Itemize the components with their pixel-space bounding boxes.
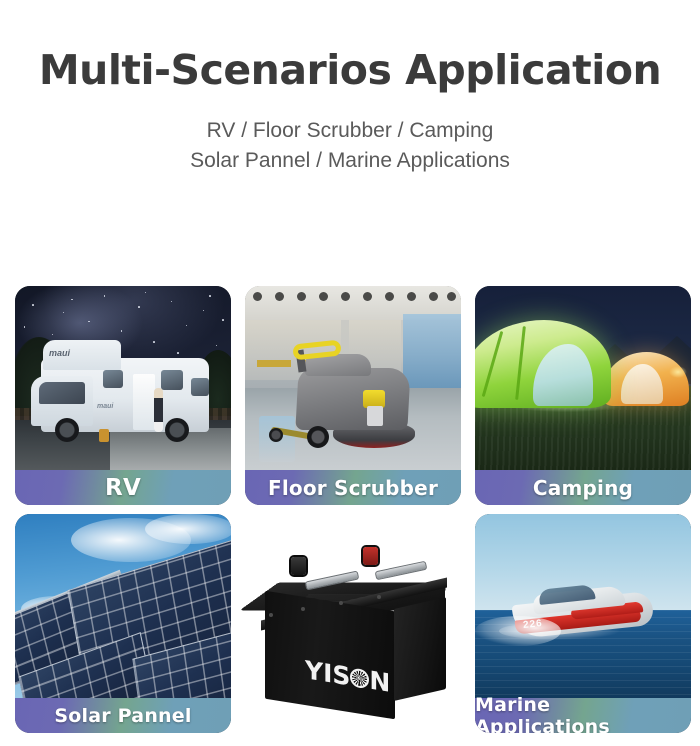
card-label-text: Solar Pannel xyxy=(54,705,191,727)
floor-scrubber-photo xyxy=(245,286,461,470)
scrubber-wheel xyxy=(307,426,329,448)
card-label-text: Camping xyxy=(533,476,633,500)
rv-window-2 xyxy=(161,370,183,390)
page-title: Multi-Scenarios Application xyxy=(0,46,700,94)
card-label-marine-applications: Marine Applications xyxy=(475,698,691,733)
scenario-card-solar-pannel[interactable]: Solar Pannel xyxy=(15,514,231,733)
scrubber-body xyxy=(295,368,410,430)
rv-window-3 xyxy=(191,378,209,396)
battery-product-image: YISN xyxy=(253,549,453,717)
boat-wake-spray xyxy=(475,616,561,646)
shop-accent-1 xyxy=(257,360,291,367)
product-battery-cell: YISN xyxy=(245,514,461,733)
brand-letters-is: IS xyxy=(323,658,350,691)
rv-windshield xyxy=(39,382,85,404)
brand-letter-n: N xyxy=(369,665,390,697)
camp-lantern-glow xyxy=(669,366,687,378)
battery-negative-terminal xyxy=(291,557,306,575)
scenario-row-bottom: Solar Pannel YISN xyxy=(15,514,691,733)
battery-side-face xyxy=(394,597,446,701)
solar-pannel-photo xyxy=(15,514,231,698)
scenario-card-marine-applications[interactable]: 226 Marine Applications xyxy=(475,514,691,733)
brand-letter-y: Y xyxy=(305,655,323,687)
scenario-card-floor-scrubber[interactable]: Floor Scrubber xyxy=(245,286,461,505)
cloud-3 xyxy=(145,514,231,544)
person-at-door xyxy=(154,388,163,432)
scenario-card-rv[interactable]: maui maui RV xyxy=(15,286,231,505)
rv-window-1 xyxy=(103,370,123,388)
sunburst-icon xyxy=(350,667,369,689)
scenario-grid: maui maui RV xyxy=(15,286,691,733)
scenario-card-camping[interactable]: Camping xyxy=(475,286,691,505)
card-label-text: RV xyxy=(105,475,141,501)
card-label-text: Marine Applications xyxy=(475,694,691,734)
rv-photo: maui maui xyxy=(15,286,231,470)
subtitle-line-2: Solar Pannel / Marine Applications xyxy=(0,146,700,176)
card-label-solar-pannel: Solar Pannel xyxy=(15,698,231,733)
battery-positive-terminal xyxy=(363,547,378,565)
battery-front-face xyxy=(265,591,395,720)
card-label-camping: Camping xyxy=(475,470,691,505)
subtitle-line-1: RV / Floor Scrubber / Camping xyxy=(0,116,700,146)
subtitle: RV / Floor Scrubber / Camping Solar Pann… xyxy=(0,116,700,176)
rv-brand-overcab: maui xyxy=(49,348,70,358)
yellow-bag xyxy=(99,429,109,442)
card-label-text: Floor Scrubber xyxy=(268,476,438,500)
battery-handle-right xyxy=(375,561,428,581)
card-label-rv: RV xyxy=(15,470,231,505)
rv-door xyxy=(133,374,155,430)
scrubber-panel xyxy=(367,406,383,426)
rv-brand-side: maui xyxy=(97,403,113,410)
camping-photo xyxy=(475,286,691,470)
card-label-floor-scrubber: Floor Scrubber xyxy=(245,470,461,505)
scenario-row-top: maui maui RV xyxy=(15,286,691,505)
scrubber-caster xyxy=(269,428,283,442)
rv-wheel-rear xyxy=(165,418,189,442)
marine-photo: 226 xyxy=(475,514,691,698)
rv-wheel-front xyxy=(55,418,79,442)
shopfront-right xyxy=(403,314,461,390)
